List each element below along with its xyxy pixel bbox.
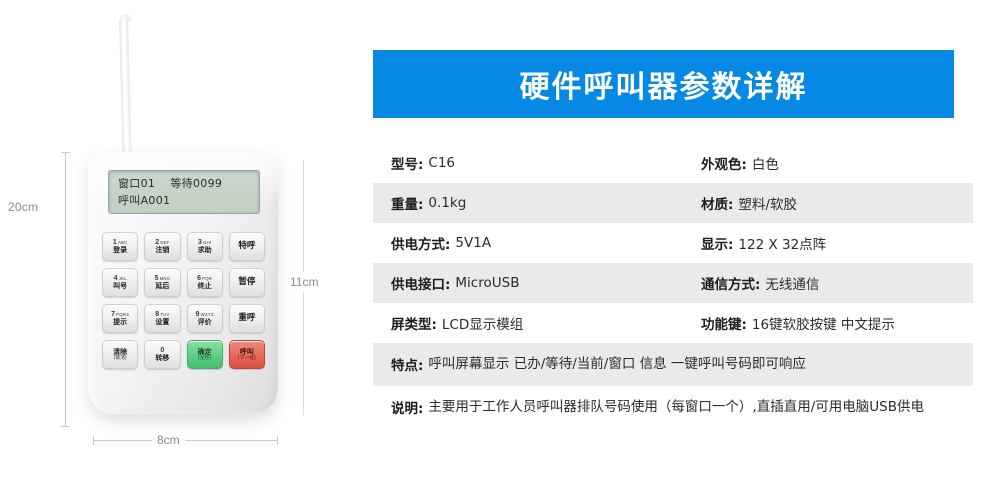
spec-cell-right: 通信方式:无线通信: [693, 263, 953, 303]
spec-row-inner: 说明:主要用于工作人员呼叫器排队号码使用（每窗口一个）,直插直用/可用电脑USB…: [373, 386, 973, 429]
key-7-提示[interactable]: 7PQRS提示: [102, 304, 138, 333]
key-cn-label: 登录: [113, 247, 127, 254]
key-9-评价[interactable]: 9WXYZ评价: [187, 304, 223, 333]
key-cn-label: 求助: [198, 247, 212, 254]
spec-label: 材质:: [701, 193, 733, 213]
caller-device-body: 窗口01 等待0099 呼叫A001 1ABC登录2DEF注销3GHI求助特呼4…: [88, 152, 278, 414]
key-2-注销[interactable]: 2DEF注销: [144, 232, 180, 261]
spec-label: 供电方式:: [391, 233, 450, 253]
spec-row: 屏类型:LCD显示模组功能键:16键软胶按键 中文提示: [373, 303, 973, 343]
spec-row-full: 特点:呼叫屏幕显示 已办/等待/当前/窗口 信息 一键呼叫号码即可响应: [373, 343, 973, 386]
spec-row-full: 说明:主要用于工作人员呼叫器排队号码使用（每窗口一个）,直插直用/可用电脑USB…: [373, 386, 973, 429]
spec-label: 通信方式:: [701, 273, 760, 293]
key-digit-label: 9WXYZ: [195, 311, 213, 318]
key-4-叫号[interactable]: 4JKL叫号: [102, 268, 138, 297]
key-cn-label: 重呼: [238, 314, 255, 323]
spec-panel: 硬件呼叫器参数详解 型号:C16外观色:白色重量:0.1kg材质:塑料/软胶供电…: [373, 0, 973, 492]
key-cn-label: 提示: [113, 319, 127, 326]
width-dimension-label: 8cm: [152, 433, 185, 447]
spec-row: 重量:0.1kg材质:塑料/软胶: [373, 183, 973, 223]
spec-cell-right: 材质:塑料/软胶: [693, 183, 953, 223]
depth-dimension-label: 11cm: [288, 272, 320, 292]
spec-value: 呼叫屏幕显示 已办/等待/当前/窗口 信息 一键呼叫号码即可响应: [428, 354, 806, 375]
spec-value: C16: [428, 155, 455, 171]
key-digit-label: 2DEF: [155, 239, 169, 246]
spec-value: LCD显示模组: [442, 313, 523, 333]
spec-value: MicroUSB: [455, 275, 519, 291]
spec-value: 16键软胶按键 中文提示: [752, 313, 895, 333]
key-digit-label: 6PQR: [197, 275, 212, 282]
spec-label: 功能键:: [701, 313, 747, 333]
spec-cell-left: 屏类型:LCD显示模组: [373, 303, 693, 343]
key-0-转移[interactable]: 0转移: [144, 340, 180, 369]
key-cn-label: 设置: [155, 319, 169, 326]
spec-row: 型号:C16外观色:白色: [373, 143, 973, 183]
key-重呼[interactable]: 重呼: [229, 304, 265, 333]
lcd-screen: 窗口01 等待0099 呼叫A001: [108, 170, 260, 214]
key-digit-label: 1ABC: [113, 239, 128, 246]
spec-label: 特点:: [391, 354, 423, 374]
spec-value: 白色: [752, 153, 779, 173]
lcd-line-2: 呼叫A001: [109, 192, 259, 209]
key-3-求助[interactable]: 3GHI求助: [187, 232, 223, 261]
key-cn-label: 暂停: [238, 278, 255, 287]
spec-label: 显示:: [701, 233, 733, 253]
lcd-line-1: 窗口01 等待0099: [109, 175, 259, 192]
spec-cell-right: 功能键:16键软胶按键 中文提示: [693, 303, 953, 343]
spec-cell-left: 型号:C16: [373, 143, 693, 183]
key-确定[interactable]: 确定(左移): [187, 340, 223, 369]
key-暂停[interactable]: 暂停: [229, 268, 265, 297]
key-sub-label: (取消): [113, 357, 126, 362]
antenna-icon: [119, 18, 132, 168]
key-1-登录[interactable]: 1ABC登录: [102, 232, 138, 261]
spec-value: 塑料/软胶: [738, 193, 797, 213]
title-banner: 硬件呼叫器参数详解: [373, 50, 954, 118]
spec-row-inner: 特点:呼叫屏幕显示 已办/等待/当前/窗口 信息 一键呼叫号码即可响应: [373, 343, 973, 386]
spec-label: 外观色:: [701, 153, 747, 173]
key-digit-label: 3GHI: [198, 239, 211, 246]
spec-cell-left: 供电方式:5V1A: [373, 223, 693, 263]
page-title: 硬件呼叫器参数详解: [520, 62, 808, 106]
key-cn-label: 终止: [198, 283, 212, 290]
spec-label: 屏类型:: [391, 313, 437, 333]
spec-row: 供电接口:MicroUSB通信方式:无线通信: [373, 263, 973, 303]
height-dimension-label: 20cm: [8, 200, 38, 214]
key-cn-label: 延后: [155, 283, 169, 290]
spec-value: 主要用于工作人员呼叫器排队号码使用（每窗口一个）,直插直用/可用电脑USB供电: [428, 397, 924, 418]
spec-label: 说明:: [391, 397, 423, 417]
spec-label: 型号:: [391, 153, 423, 173]
spec-cell-left: 重量:0.1kg: [373, 183, 693, 223]
key-digit-label: 8TUV: [155, 311, 169, 318]
spec-cell-right: 外观色:白色: [693, 143, 953, 183]
keypad: 1ABC登录2DEF注销3GHI求助特呼4JKL叫号5MNO延后6PQR终止暂停…: [102, 232, 265, 369]
spec-value: 5V1A: [455, 235, 491, 251]
key-cn-label: 叫号: [113, 283, 127, 290]
width-dimension-line: [93, 440, 278, 441]
product-image-panel: 20cm 8cm 11cm 窗口01 等待0099 呼叫A001 1ABC登录2…: [0, 0, 345, 492]
spec-row: 供电方式:5V1A显示:122 X 32点阵: [373, 223, 973, 263]
spec-table: 型号:C16外观色:白色重量:0.1kg材质:塑料/软胶供电方式:5V1A显示:…: [373, 143, 973, 429]
key-digit-label: 7PQRS: [111, 311, 129, 318]
key-8-设置[interactable]: 8TUV设置: [144, 304, 180, 333]
key-呼叫[interactable]: 呼叫(下一位): [229, 340, 265, 369]
spec-cell-left: 供电接口:MicroUSB: [373, 263, 693, 303]
key-digit-label: 4JKL: [114, 275, 127, 282]
key-清除[interactable]: 清除(取消): [102, 340, 138, 369]
spec-label: 供电接口:: [391, 273, 450, 293]
key-digit-label: 5MNO: [155, 275, 171, 282]
spec-cell-right: 显示:122 X 32点阵: [693, 223, 953, 263]
spec-value: 0.1kg: [428, 195, 466, 211]
key-6-终止[interactable]: 6PQR终止: [187, 268, 223, 297]
spec-label: 重量:: [391, 193, 423, 213]
key-cn-label: 转移: [155, 355, 169, 362]
key-cn-label: 特呼: [238, 242, 255, 251]
key-digit-label: 0: [160, 347, 164, 354]
spec-value: 无线通信: [765, 273, 819, 293]
height-dimension-line: [65, 152, 66, 427]
key-5-延后[interactable]: 5MNO延后: [144, 268, 180, 297]
key-特呼[interactable]: 特呼: [229, 232, 265, 261]
key-sub-label: (左移): [198, 357, 211, 362]
key-cn-label: 评价: [198, 319, 212, 326]
spec-value: 122 X 32点阵: [738, 233, 826, 253]
key-sub-label: (下一位): [238, 357, 256, 362]
key-cn-label: 注销: [155, 247, 169, 254]
